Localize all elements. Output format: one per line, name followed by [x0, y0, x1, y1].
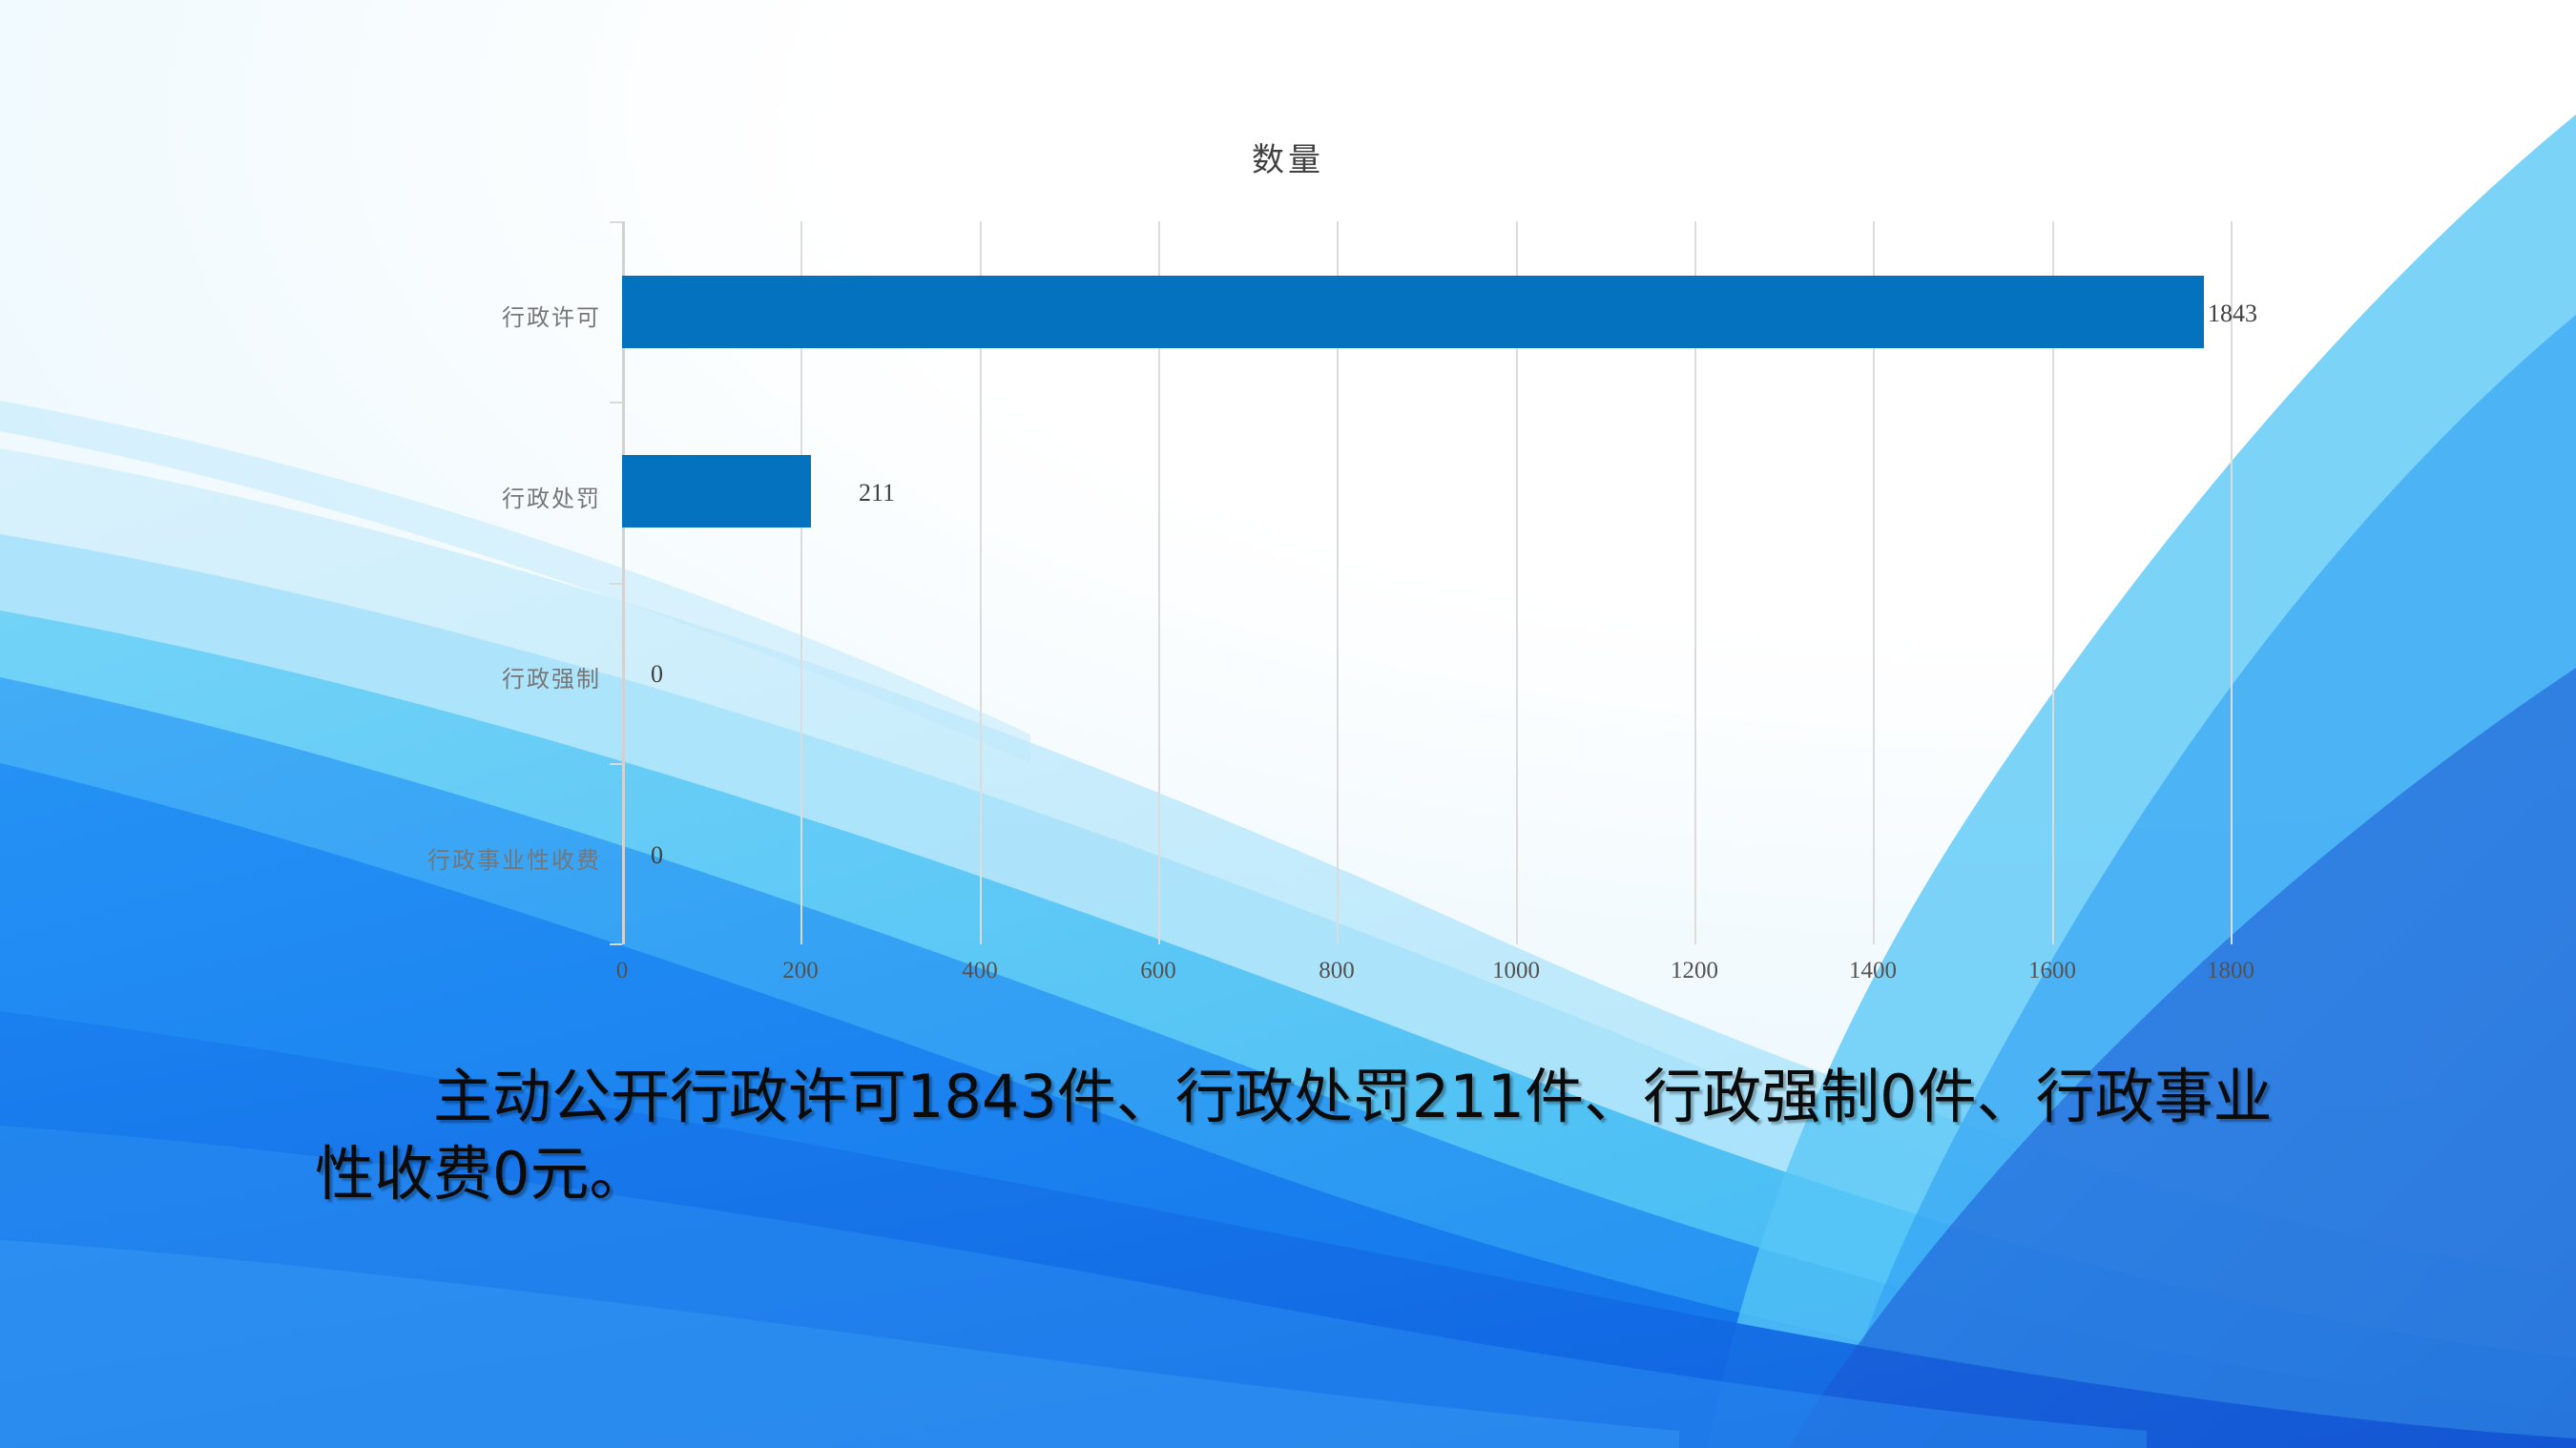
y-axis-tick-4: [610, 943, 622, 945]
gridline-1800: [2231, 221, 2233, 944]
bar-value-label-2: 0: [651, 660, 663, 689]
plot-area: 1843 211 0 0 0 200 400 600 800 1000 1200…: [622, 221, 2231, 944]
y-axis-tick-0: [610, 221, 622, 223]
x-axis-tick-label-7: 1400: [1825, 958, 1921, 984]
y-axis-label-3: 行政事业性收费: [305, 841, 601, 875]
x-axis-tick-label-3: 600: [1111, 958, 1206, 984]
bar-value-label-3: 0: [651, 841, 663, 870]
slide-caption: 主动公开行政许可1843件、行政处罚211件、行政强制0件、行政事业性收费0元。: [315, 1059, 2290, 1212]
x-axis-tick-label-0: 0: [574, 958, 670, 984]
bar-value-label-0: 1843: [2208, 300, 2257, 328]
bar-1: [622, 455, 811, 527]
x-axis-tick-label-2: 400: [932, 958, 1028, 984]
y-axis-label-1: 行政处罚: [305, 480, 601, 513]
y-axis-tick-3: [610, 763, 622, 765]
x-axis-tick-label-6: 1200: [1647, 958, 1742, 984]
bar-chart: 数量 行政许可 行政处罚 行政强制 行政事业性收费: [0, 0, 2576, 1011]
y-axis-tick-2: [610, 583, 622, 585]
x-axis-tick-label-8: 1600: [2005, 958, 2100, 984]
chart-title: 数量: [0, 134, 2576, 180]
y-axis-tick-1: [610, 402, 622, 403]
y-axis-label-2: 行政强制: [305, 660, 601, 693]
x-axis-tick-label-5: 1000: [1468, 958, 1564, 984]
presentation-slide: 数量 行政许可 行政处罚 行政强制 行政事业性收费: [0, 0, 2576, 1448]
bar-value-label-1: 211: [859, 479, 895, 507]
x-axis-tick-label-9: 1800: [2183, 958, 2278, 984]
bar-0: [622, 276, 2204, 348]
y-axis-label-0: 行政许可: [305, 299, 601, 332]
x-axis-tick-label-1: 200: [753, 958, 848, 984]
x-axis-tick-label-4: 800: [1289, 958, 1384, 984]
